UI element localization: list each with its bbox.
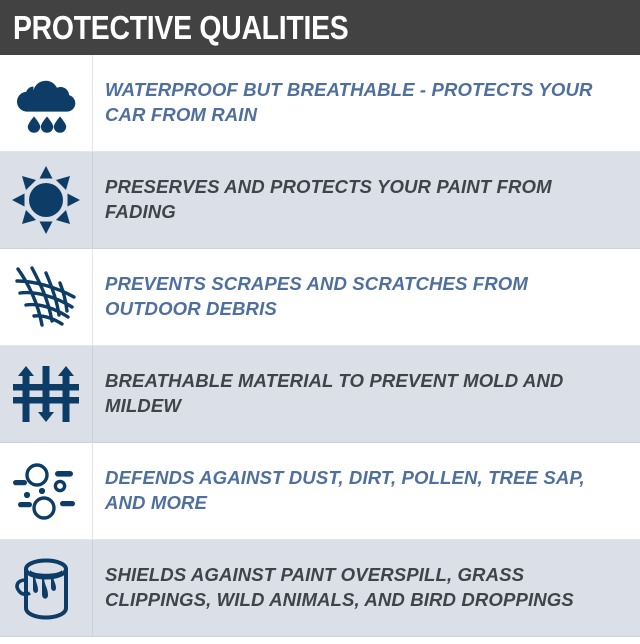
sun-icon: [12, 166, 80, 234]
icon-cell: [0, 249, 93, 345]
icon-cell: [0, 55, 93, 151]
text-cell: PRESERVES AND PROTECTS YOUR PAINT FROM F…: [93, 152, 640, 248]
dust-particles-icon: [11, 460, 81, 522]
text-cell: BREATHABLE MATERIAL TO PREVENT MOLD AND …: [93, 346, 640, 442]
feature-text: PRESERVES AND PROTECTS YOUR PAINT FROM F…: [105, 175, 626, 224]
icon-cell: [0, 443, 93, 539]
feature-row-paint-overspill: SHIELDS AGAINST PAINT OVERSPILL, GRASS C…: [0, 540, 640, 637]
feature-text: BREATHABLE MATERIAL TO PREVENT MOLD AND …: [105, 369, 626, 418]
icon-cell: [0, 152, 93, 248]
text-cell: WATERPROOF BUT BREATHABLE - PROTECTS YOU…: [93, 55, 640, 151]
paint-can-icon: [13, 554, 79, 622]
rain-cloud-icon: [13, 72, 79, 134]
breathable-airflow-icon: [12, 362, 80, 426]
footer-strip: [0, 637, 640, 644]
feature-row-scratch-resistance: PREVENTS SCRAPES AND SCRATCHES FROM OUTD…: [0, 249, 640, 346]
feature-list: WATERPROOF BUT BREATHABLE - PROTECTS YOU…: [0, 55, 640, 637]
scratches-icon: [12, 263, 80, 331]
feature-text: DEFENDS AGAINST DUST, DIRT, POLLEN, TREE…: [105, 466, 626, 515]
feature-row-breathable: BREATHABLE MATERIAL TO PREVENT MOLD AND …: [0, 346, 640, 443]
text-cell: PREVENTS SCRAPES AND SCRATCHES FROM OUTD…: [93, 249, 640, 345]
feature-text: WATERPROOF BUT BREATHABLE - PROTECTS YOU…: [105, 78, 626, 127]
page-title: PROTECTIVE QUALITIES: [13, 11, 348, 44]
text-cell: SHIELDS AGAINST PAINT OVERSPILL, GRASS C…: [93, 540, 640, 636]
feature-row-dust-defense: DEFENDS AGAINST DUST, DIRT, POLLEN, TREE…: [0, 443, 640, 540]
feature-row-waterproof: WATERPROOF BUT BREATHABLE - PROTECTS YOU…: [0, 55, 640, 152]
icon-cell: [0, 346, 93, 442]
feature-text: PREVENTS SCRAPES AND SCRATCHES FROM OUTD…: [105, 272, 626, 321]
protective-qualities-infographic: PROTECTIVE QUALITIES WATERPROOF BUT BREA…: [0, 0, 640, 640]
feature-row-uv-protection: PRESERVES AND PROTECTS YOUR PAINT FROM F…: [0, 152, 640, 249]
icon-cell: [0, 540, 93, 636]
header-bar: PROTECTIVE QUALITIES: [0, 0, 640, 55]
text-cell: DEFENDS AGAINST DUST, DIRT, POLLEN, TREE…: [93, 443, 640, 539]
feature-text: SHIELDS AGAINST PAINT OVERSPILL, GRASS C…: [105, 563, 626, 612]
